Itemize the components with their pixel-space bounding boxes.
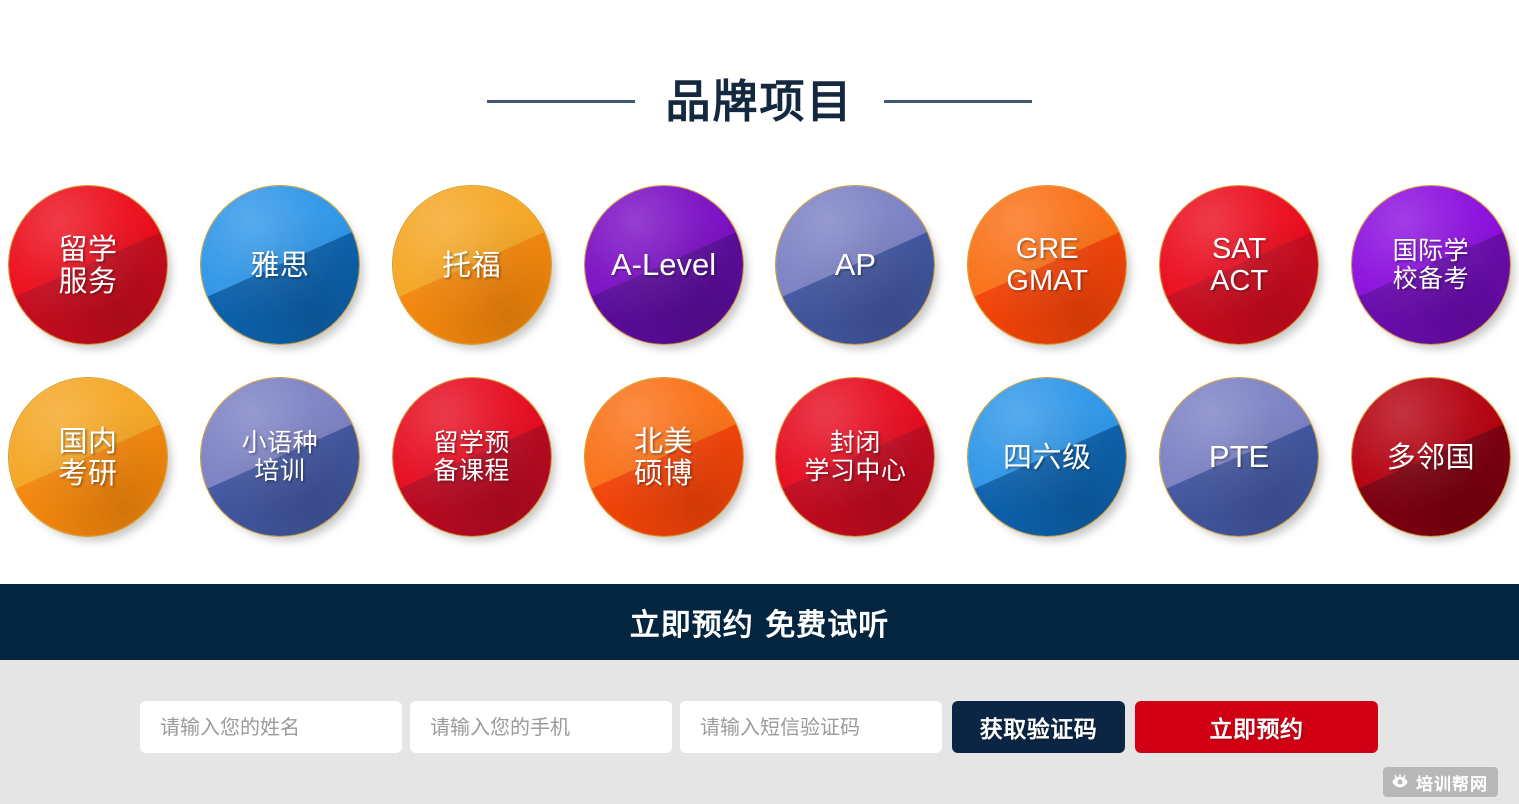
program-bubble-international-school-prep[interactable]: 国际学 校备考	[1351, 185, 1511, 345]
section-heading: 品牌项目	[0, 62, 1519, 140]
cta-banner-text: 立即预约 免费试听	[630, 600, 889, 644]
name-input[interactable]	[140, 701, 402, 753]
program-row-1: 留学 服务 雅思 托福 A-Level AP GRE GMAT SAT ACT …	[8, 185, 1511, 345]
program-bubble-a-level[interactable]: A-Level	[584, 185, 744, 345]
program-label: A-Level	[607, 248, 720, 283]
page-title: 品牌项目	[665, 79, 853, 124]
brand-programs-page: 品牌项目 留学 服务 雅思 托福 A-Level AP GRE GMAT	[0, 0, 1519, 804]
program-label: 小语种 培训	[238, 429, 323, 485]
program-row-2: 国内 考研 小语种 培训 留学预 备课程 北美 硕博 封闭 学习中心 四六级 P…	[8, 377, 1511, 537]
program-label: 多邻国	[1383, 441, 1480, 473]
program-bubble-north-america-master-phd[interactable]: 北美 硕博	[584, 377, 744, 537]
eye-icon	[1391, 773, 1409, 791]
program-bubble-sat-act[interactable]: SAT ACT	[1159, 185, 1319, 345]
program-bubble-grid: 留学 服务 雅思 托福 A-Level AP GRE GMAT SAT ACT …	[8, 185, 1511, 537]
sms-code-input[interactable]	[680, 701, 942, 753]
watermark-text: 培训帮网	[1416, 770, 1488, 795]
program-bubble-ap[interactable]: AP	[775, 185, 935, 345]
program-label: AP	[831, 248, 880, 283]
program-bubble-study-abroad-prep-course[interactable]: 留学预 备课程	[392, 377, 552, 537]
program-label: 雅思	[246, 249, 313, 281]
program-label: 国际学 校备考	[1389, 237, 1474, 293]
program-label: 北美 硕博	[630, 425, 697, 490]
program-label: GRE GMAT	[1002, 233, 1092, 298]
heading-rule-left	[487, 100, 635, 103]
site-watermark: 培训帮网	[1383, 767, 1498, 797]
program-bubble-pte[interactable]: PTE	[1159, 377, 1319, 537]
program-label: 四六级	[999, 441, 1096, 473]
program-label: PTE	[1205, 440, 1273, 475]
program-label: 国内 考研	[54, 425, 121, 490]
program-bubble-cet-4-6[interactable]: 四六级	[967, 377, 1127, 537]
get-sms-code-button[interactable]: 获取验证码	[952, 701, 1125, 753]
program-bubble-ielts[interactable]: 雅思	[200, 185, 360, 345]
booking-form: 获取验证码 立即预约	[140, 701, 1378, 753]
program-label: 封闭 学习中心	[800, 429, 910, 485]
program-label: 留学 服务	[54, 233, 121, 298]
cta-banner: 立即预约 免费试听	[0, 584, 1519, 660]
program-bubble-domestic-postgrad-exam[interactable]: 国内 考研	[8, 377, 168, 537]
heading-rule-right	[884, 100, 1032, 103]
program-bubble-study-abroad-service[interactable]: 留学 服务	[8, 185, 168, 345]
phone-input[interactable]	[410, 701, 672, 753]
program-bubble-toefl[interactable]: 托福	[392, 185, 552, 345]
program-label: 托福	[438, 249, 505, 281]
program-label: SAT ACT	[1206, 233, 1272, 298]
program-label: 留学预 备课程	[429, 429, 514, 485]
program-bubble-minor-language-training[interactable]: 小语种 培训	[200, 377, 360, 537]
program-bubble-duolingo[interactable]: 多邻国	[1351, 377, 1511, 537]
submit-booking-button[interactable]: 立即预约	[1135, 701, 1378, 753]
program-bubble-gre-gmat[interactable]: GRE GMAT	[967, 185, 1127, 345]
booking-form-section: 获取验证码 立即预约	[0, 660, 1519, 804]
program-bubble-closed-study-center[interactable]: 封闭 学习中心	[775, 377, 935, 537]
